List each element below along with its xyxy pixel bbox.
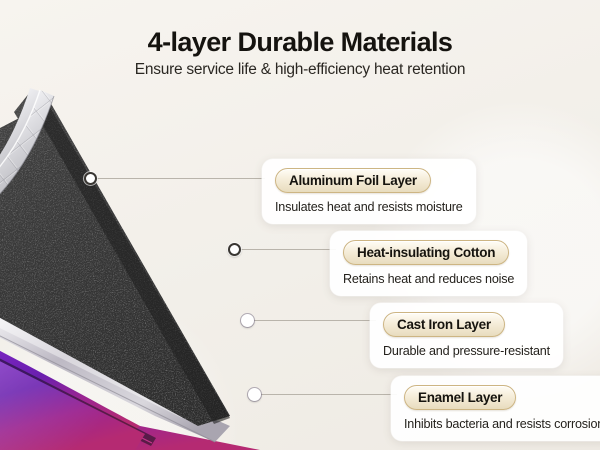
marker-dot-enamel[interactable] [248,388,261,401]
callout-card-enamel: Enamel LayerInhibits bacteria and resist… [391,376,600,441]
connector-line-enamel [261,394,397,395]
callout-card-cast-iron: Cast Iron LayerDurable and pressure-resi… [370,303,563,368]
marker-dot-cast-iron[interactable] [241,314,254,327]
connector-line-heat-insulating-cotton [241,249,336,250]
callout-label-enamel: Enamel Layer [404,385,516,410]
connector-line-aluminum-foil [97,178,265,179]
page-title: 4-layer Durable Materials [0,27,600,58]
callout-label-cast-iron: Cast Iron Layer [383,312,505,337]
callout-description-cast-iron: Durable and pressure-resistant [383,344,550,358]
product-cutaway-illustration [0,86,360,450]
page-subtitle: Ensure service life & high-efficiency he… [0,61,600,79]
marker-dot-heat-insulating-cotton[interactable] [228,243,241,256]
callout-card-heat-insulating-cotton: Heat-insulating CottonRetains heat and r… [330,231,527,296]
callout-card-aluminum-foil: Aluminum Foil LayerInsulates heat and re… [262,159,476,224]
marker-dot-aluminum-foil[interactable] [84,172,97,185]
callout-description-aluminum-foil: Insulates heat and resists moisture [275,200,463,214]
connector-line-cast-iron [254,320,376,321]
callout-description-enamel: Inhibits bacteria and resists corrosion [404,417,600,431]
infographic-canvas: 4-layer Durable Materials Ensure service… [0,0,600,450]
callout-description-heat-insulating-cotton: Retains heat and reduces noise [343,272,514,286]
callout-label-heat-insulating-cotton: Heat-insulating Cotton [343,240,509,265]
callout-label-aluminum-foil: Aluminum Foil Layer [275,168,431,193]
